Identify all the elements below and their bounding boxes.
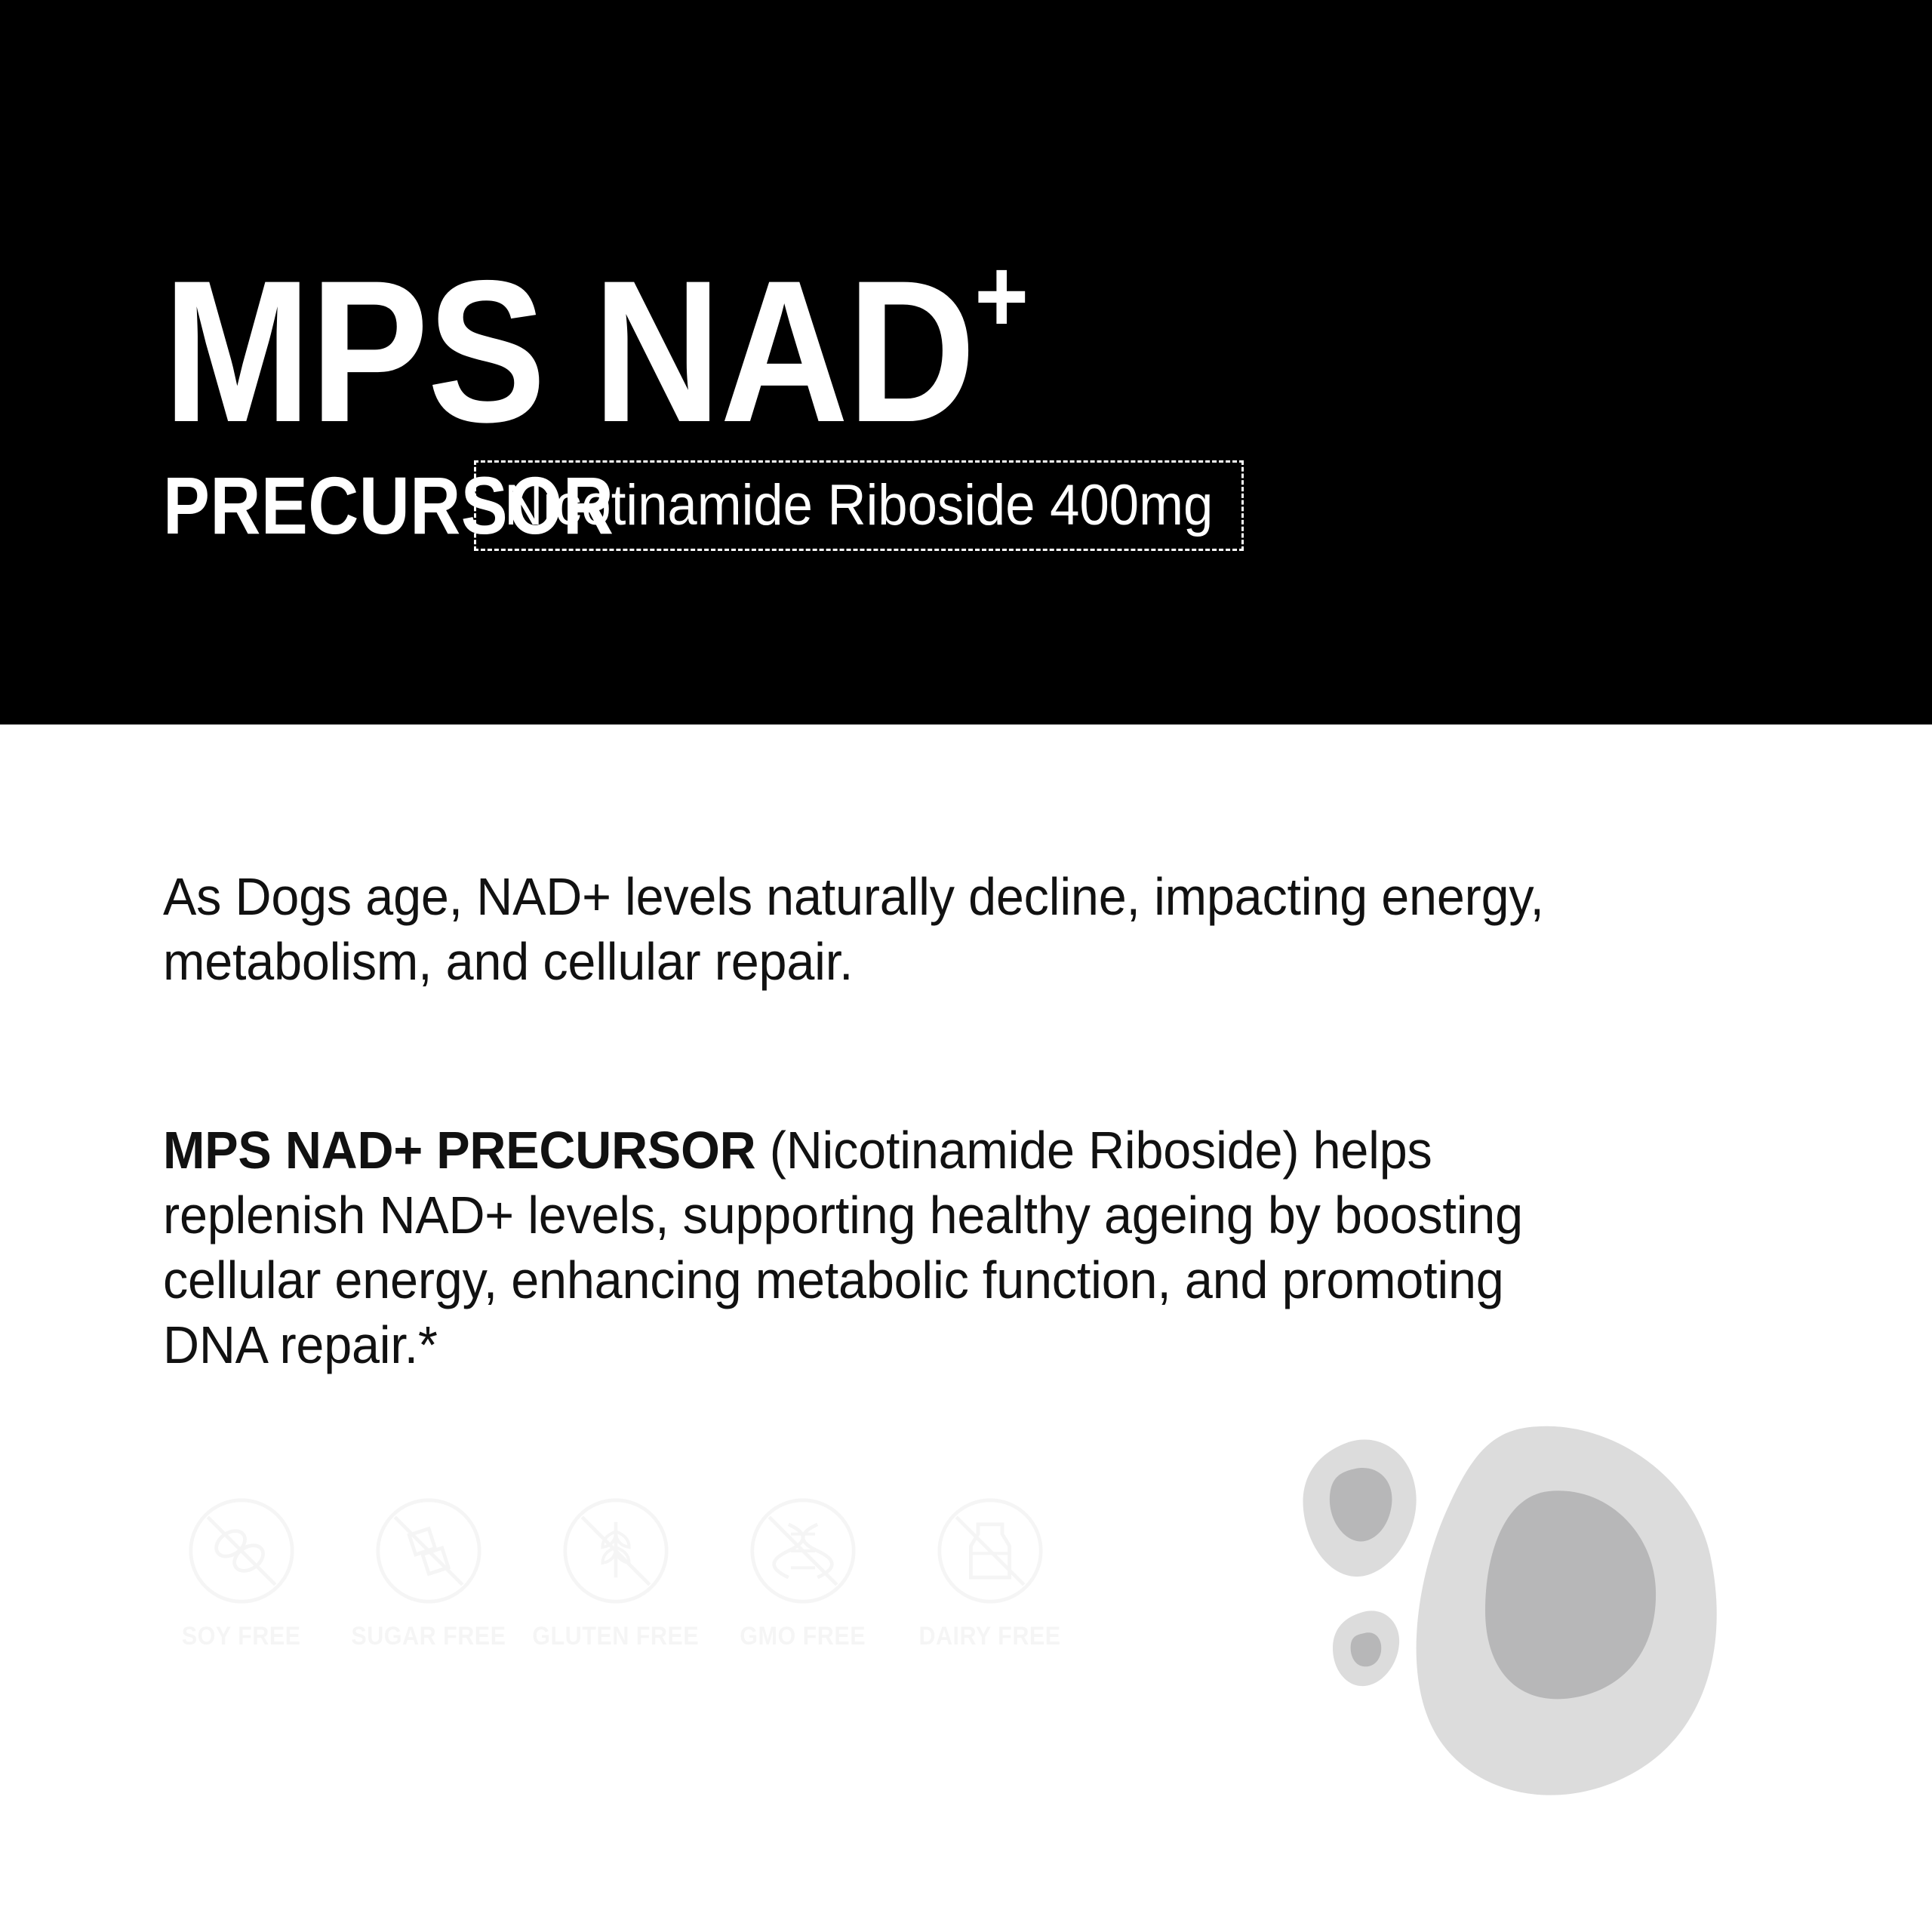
header-band: MPS NAD+ PRECURSOR Nicotinamide Riboside… xyxy=(0,0,1932,724)
ingredient-callout-text: Nicotinamide Riboside 400mg xyxy=(505,475,1214,536)
badge-label: GMO FREE xyxy=(740,1622,866,1651)
cell-illustration xyxy=(1283,1396,1751,1864)
no-soy-icon xyxy=(181,1491,302,1611)
badge-label: GLUTEN FREE xyxy=(533,1622,700,1651)
product-title-main: MPS NAD xyxy=(163,238,974,464)
product-name-bold: MPS NAD+ PRECURSOR xyxy=(163,1121,755,1180)
badge-label: SUGAR FREE xyxy=(351,1622,506,1651)
no-dairy-icon xyxy=(930,1491,1051,1611)
product-label-panel: MPS NAD+ PRECURSOR Nicotinamide Riboside… xyxy=(0,0,1932,1932)
badge-dairy-free: DAIRY FREE xyxy=(897,1491,1084,1651)
badge-soy-free: SOY FREE xyxy=(148,1491,335,1651)
badge-label: SOY FREE xyxy=(182,1622,301,1651)
body-copy: As Dogs age, NAD+ levels naturally decli… xyxy=(163,864,1642,1377)
no-sugar-icon xyxy=(368,1491,489,1611)
certification-badge-row: SOY FREE SUGAR FREE xyxy=(148,1491,1084,1651)
nad-plus-superscript: + xyxy=(974,236,1029,355)
badge-sugar-free: SUGAR FREE xyxy=(335,1491,522,1651)
badge-label: DAIRY FREE xyxy=(919,1622,1061,1651)
subtitle-row: PRECURSOR Nicotinamide Riboside 400mg xyxy=(163,459,1244,552)
page-title: MPS NAD+ xyxy=(163,195,1029,452)
cell-nucleus-small xyxy=(1351,1632,1382,1666)
paragraph-product-benefit: MPS NAD+ PRECURSOR (Nicotinamide Ribosid… xyxy=(163,1118,1568,1377)
badge-gmo-free: GMO FREE xyxy=(709,1491,897,1651)
badge-gluten-free: GLUTEN FREE xyxy=(522,1491,709,1651)
no-gluten-icon xyxy=(555,1491,676,1611)
no-gmo-icon xyxy=(743,1491,863,1611)
product-subtitle: PRECURSOR xyxy=(163,465,423,546)
paragraph-ageing-decline: As Dogs age, NAD+ levels naturally decli… xyxy=(163,864,1568,994)
